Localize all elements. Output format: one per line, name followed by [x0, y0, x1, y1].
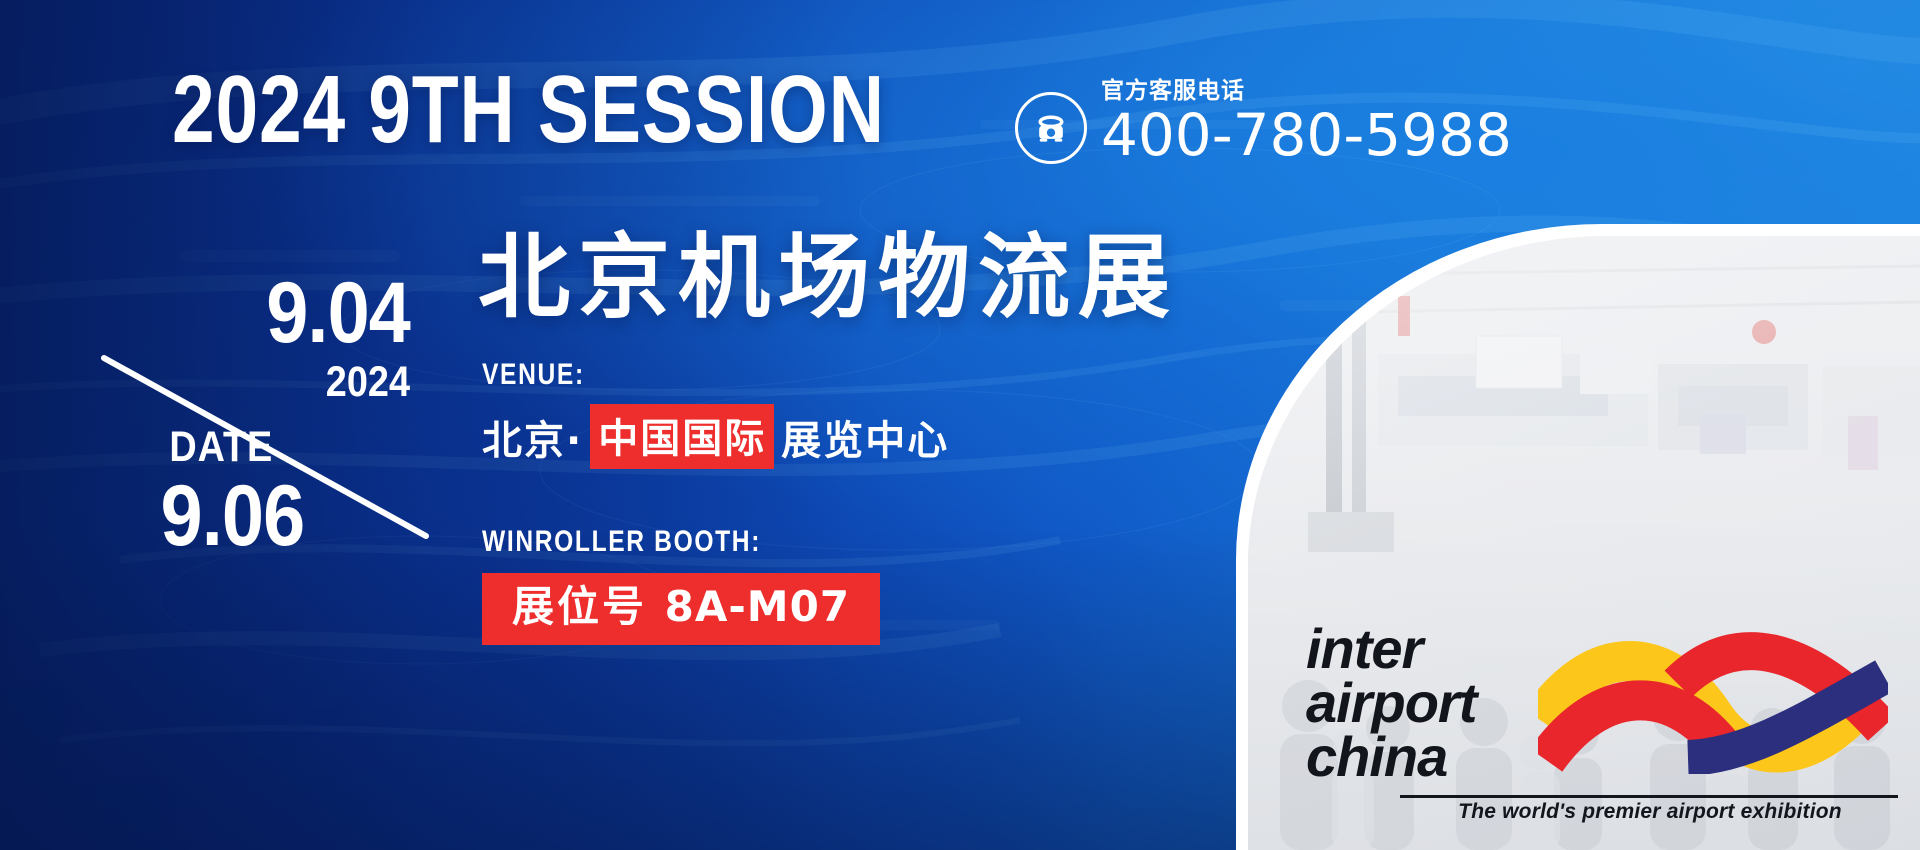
date-year: 2024 — [181, 361, 410, 404]
logo-line-airport: airport — [1306, 676, 1476, 730]
date-start: 9.04 — [181, 272, 410, 355]
contact-text: 官方客服电话 400-780-5988 — [1101, 78, 1512, 164]
logo-line-china: china — [1306, 730, 1476, 784]
inter-airport-china-logo: inter airport china The world's premier … — [1300, 618, 1900, 828]
info-block: VENUE: 北京· 中国国际 展览中心 WINROLLER BOOTH: 展位… — [482, 360, 1242, 645]
booth-code: 8A-M07 — [665, 582, 850, 631]
promo-banner: 2024 9TH SESSION 官方客服电话 400-780-5988 北京机… — [0, 0, 1920, 850]
booth-label: WINROLLER BOOTH: — [482, 527, 1105, 557]
contact-number: 400-780-5988 — [1101, 106, 1512, 164]
venue-highlight: 中国国际 — [590, 404, 774, 469]
booth-block: WINROLLER BOOTH: 展位号 8A-M07 — [482, 527, 1242, 645]
date-block: 9.04 2024 DATE 9.06 — [150, 272, 410, 557]
exhibition-photo-panel: inter airport china The world's premier … — [1248, 236, 1920, 850]
booth-prefix: 展位号 — [512, 582, 647, 631]
logo-tagline: The world's premier airport exhibition — [1400, 800, 1900, 824]
booth-badge: 展位号 8A-M07 — [482, 573, 880, 645]
exhibition-title-cn: 北京机场物流展 — [478, 232, 1178, 324]
telephone-glyph — [1031, 108, 1071, 148]
date-word-label: DATE — [150, 426, 379, 469]
venue-value: 北京· 中国国际 展览中心 — [482, 404, 1242, 469]
date-end: 9.06 — [150, 475, 379, 558]
contact-block: 官方客服电话 400-780-5988 — [1015, 78, 1512, 164]
logo-wordmark: inter airport china — [1306, 622, 1476, 783]
logo-divider — [1400, 795, 1898, 798]
logo-line-inter: inter — [1306, 622, 1476, 676]
page-title: 2024 9TH SESSION — [172, 62, 885, 158]
ribbon-swoosh-icon — [1538, 624, 1888, 774]
venue-prefix: 北京· — [482, 408, 583, 466]
booth-value: 展位号 8A-M07 — [512, 586, 850, 628]
venue-label: VENUE: — [482, 360, 1105, 390]
venue-suffix: 展览中心 — [781, 408, 949, 466]
telephone-icon — [1015, 92, 1087, 164]
